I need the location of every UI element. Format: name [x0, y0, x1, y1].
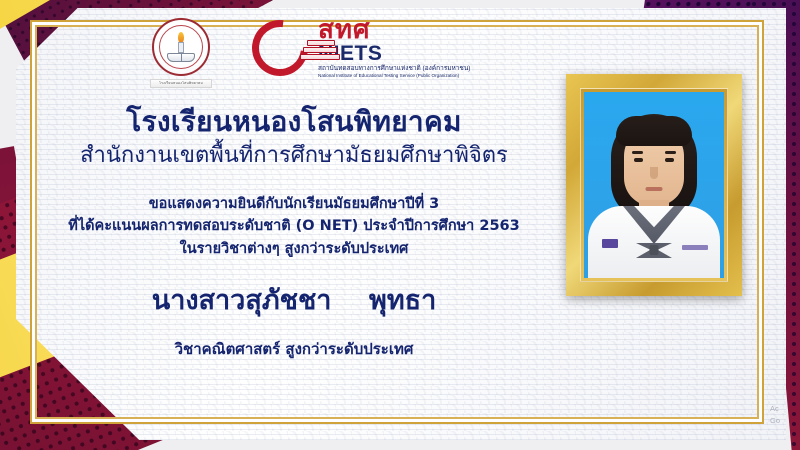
- portrait-eye-right: [665, 158, 674, 162]
- portrait-uniform-nametag: [682, 245, 708, 250]
- school-seal-ribbon: โรงเรียนหนองโสนพิทยาคม: [150, 79, 212, 88]
- student-name: นางสาวสุภัชชา พุทธา: [34, 278, 554, 321]
- portrait-eyebrow-right: [665, 151, 676, 154]
- congratulation-block: ขอแสดงความยินดีกับนักเรียนมัธยมศึกษาปีที…: [34, 193, 554, 260]
- niets-logo: สทศ NIETS สถาบันทดสอบทางการศึกษาแห่งชาติ…: [252, 18, 470, 78]
- corner-watermark: Ac Go: [770, 403, 800, 429]
- portrait-nose: [650, 167, 658, 179]
- school-logo: โรงเรียนหนองโสนพิทยาคม: [150, 18, 212, 88]
- congratulation-line-3: ในรายวิชาต่างๆ สูงกว่าระดับประเทศ: [34, 238, 554, 260]
- header-logos: โรงเรียนหนองโสนพิทยาคม สทศ NIETS สถาบันท…: [150, 18, 470, 88]
- watermark-line-1: Ac: [770, 403, 800, 416]
- open-book-icon: [167, 53, 195, 62]
- portrait-uniform-badge-left: [602, 239, 618, 248]
- photo-frame-liner: [580, 88, 728, 282]
- congratulation-line-2: ที่ได้คะแนนผลการทดสอบระดับชาติ (O NET) ป…: [34, 215, 554, 237]
- watermark-line-2: Go: [770, 415, 800, 428]
- niets-books-icon: [298, 36, 342, 66]
- office-name-subheading: สำนักงานเขตพื้นที่การศึกษามัธยมศึกษาพิจิ…: [34, 141, 554, 171]
- subject-result: วิชาคณิตศาสตร์ สูงกว่าระดับประเทศ: [34, 337, 554, 361]
- school-seal-icon: [152, 18, 210, 76]
- student-photo-frame: [566, 74, 742, 296]
- certificate-canvas: โรงเรียนหนองโสนพิทยาคม สทศ NIETS สถาบันท…: [0, 0, 800, 450]
- school-name-heading: โรงเรียนหนองโสนพิทยาคม: [34, 104, 554, 139]
- portrait-eyebrow-left: [632, 151, 643, 154]
- candle-icon: [178, 42, 184, 53]
- portrait-fringe: [616, 116, 692, 146]
- portrait-mouth: [646, 187, 663, 191]
- certificate-text-block: โรงเรียนหนองโสนพิทยาคม สำนักงานเขตพื้นที…: [34, 104, 554, 361]
- niets-english-name: National Institute of Educational Testin…: [318, 73, 470, 79]
- portrait-necktie-knot: [650, 245, 659, 255]
- student-photo: [584, 92, 724, 278]
- congratulation-line-1: ขอแสดงความยินดีกับนักเรียนมัธยมศึกษาปีที…: [34, 193, 554, 215]
- portrait-eye-left: [634, 158, 643, 162]
